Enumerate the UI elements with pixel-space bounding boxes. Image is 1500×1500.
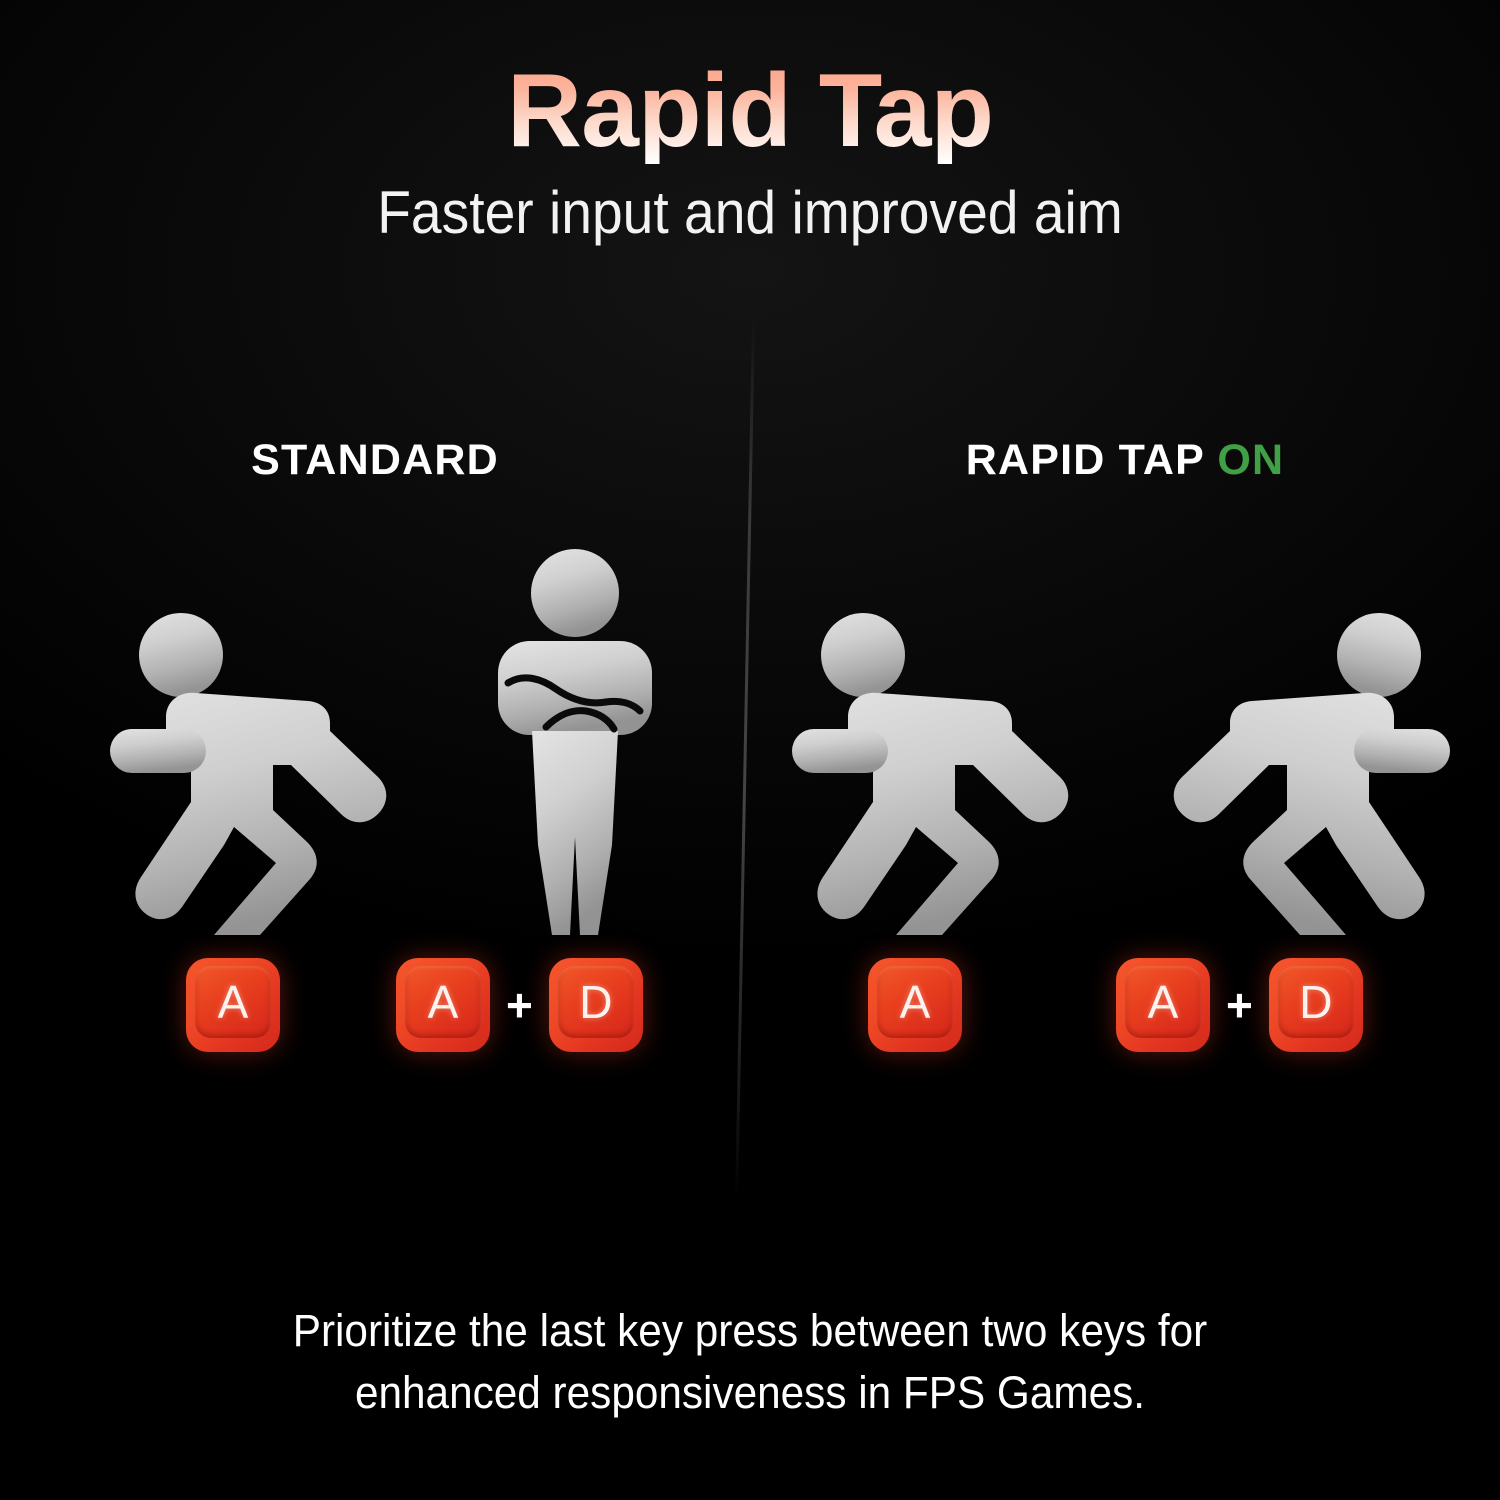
rapid-tap-infographic: Rapid Tap Faster input and improved aim … — [0, 0, 1500, 1500]
caption-line-1: Prioritize the last key press between tw… — [195, 1300, 1304, 1362]
keycap-a-label: A — [900, 979, 931, 1025]
key-group-single: A — [868, 958, 962, 1052]
keycap-a-label: A — [218, 979, 249, 1025]
keycap-a[interactable]: A — [186, 958, 280, 1052]
keycap-a-face: A — [195, 966, 271, 1038]
keycap-a[interactable]: A — [868, 958, 962, 1052]
keycap-d-face: D — [1278, 966, 1354, 1038]
keycap-a-face: A — [1125, 966, 1201, 1038]
panel-rapid-tap-heading: RAPID TAP ON — [750, 430, 1500, 490]
key-group-combo: A + D — [1116, 958, 1363, 1052]
plus-separator: + — [1224, 982, 1255, 1028]
keycap-a-face: A — [405, 966, 481, 1038]
standing-figure-arms-crossed — [460, 545, 690, 935]
page-title: Rapid Tap — [0, 58, 1500, 164]
caption-line-2: enhanced responsiveness in FPS Games. — [195, 1362, 1304, 1424]
running-figure-mirrored — [1162, 605, 1452, 935]
page-subtitle: Faster input and improved aim — [60, 178, 1440, 247]
key-row-rapid-tap: A A + D — [750, 958, 1500, 1088]
panel-rapid-tap-on: RAPID TAP ON — [750, 430, 1500, 1130]
caption: Prioritize the last key press between tw… — [195, 1300, 1304, 1424]
key-row-standard: A A + D — [0, 958, 750, 1088]
keycap-d[interactable]: D — [549, 958, 643, 1052]
panel-standard-heading-label: STANDARD — [251, 436, 499, 484]
running-figure — [790, 605, 1080, 935]
figure-row-standard — [0, 525, 750, 935]
keycap-d-label: D — [1299, 979, 1332, 1025]
key-group-single: A — [186, 958, 280, 1052]
panel-standard-heading: STANDARD — [0, 430, 750, 490]
keycap-a-label: A — [1148, 979, 1179, 1025]
key-group-combo: A + D — [396, 958, 643, 1052]
plus-separator: + — [504, 982, 535, 1028]
panel-rapid-tap-heading-label: RAPID TAP — [966, 436, 1218, 484]
figure-row-rapid-tap — [750, 525, 1500, 935]
keycap-d-label: D — [579, 979, 612, 1025]
header: Rapid Tap Faster input and improved aim — [0, 58, 1500, 247]
keycap-a[interactable]: A — [396, 958, 490, 1052]
keycap-d-face: D — [558, 966, 634, 1038]
panel-rapid-tap-heading-accent: ON — [1217, 436, 1284, 484]
keycap-a[interactable]: A — [1116, 958, 1210, 1052]
keycap-d[interactable]: D — [1269, 958, 1363, 1052]
keycap-a-label: A — [428, 979, 459, 1025]
panel-standard: STANDARD — [0, 430, 750, 1130]
running-figure — [108, 605, 398, 935]
keycap-a-face: A — [877, 966, 953, 1038]
